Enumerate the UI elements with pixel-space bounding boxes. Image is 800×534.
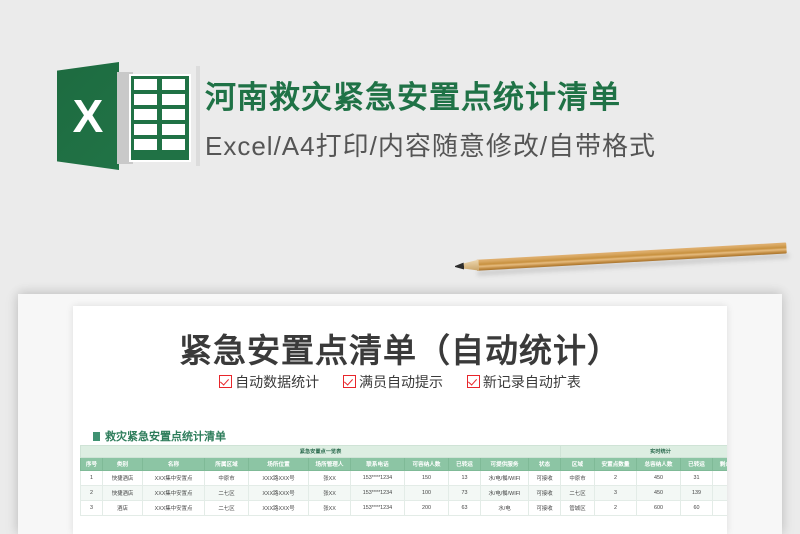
table-cell[interactable]: 13 (449, 471, 481, 486)
table-cell[interactable]: 张XX (309, 486, 351, 501)
column-header[interactable]: 已转运 (681, 458, 713, 471)
table-cell[interactable]: 2 (81, 486, 103, 501)
square-bullet-icon (93, 432, 100, 441)
table-cell[interactable]: 水/电/餐/WIFI (481, 471, 529, 486)
feature-item-3: 新记录自动扩表 (467, 372, 581, 392)
table-cell[interactable]: 153****1234 (351, 471, 405, 486)
column-header[interactable]: 可容纳人数 (405, 458, 449, 471)
table-cell[interactable]: 中原市 (205, 471, 249, 486)
feature-label: 自动数据统计 (235, 374, 319, 390)
column-header[interactable]: 已转运 (449, 458, 481, 471)
table-cell[interactable]: 200 (405, 501, 449, 516)
table-cell[interactable]: 快捷酒店 (103, 471, 143, 486)
column-header[interactable]: 区域 (561, 458, 595, 471)
column-header[interactable]: 可提供服务 (481, 458, 529, 471)
feature-item-1: 自动数据统计 (219, 372, 319, 392)
table-cell[interactable]: 153****1234 (351, 501, 405, 516)
banner-title: 河南救灾紧急安置点统计清单 (205, 72, 621, 117)
table-cell[interactable]: 张XX (309, 471, 351, 486)
table-cell[interactable]: XXX路XXX号 (249, 486, 309, 501)
table-cell[interactable]: 139 (681, 486, 713, 501)
checkbox-checked-icon (219, 375, 232, 388)
table-cell[interactable]: 150 (405, 471, 449, 486)
table-cell[interactable]: 419 (713, 471, 728, 486)
table-cell[interactable]: 中原市 (561, 471, 595, 486)
table-caption: 实时统计 (561, 446, 728, 458)
table-cell[interactable]: 可接收 (529, 501, 561, 516)
table-cell[interactable]: XXX集中安置点 (143, 486, 205, 501)
table-row[interactable]: 管城区260060540 (561, 501, 728, 516)
sheet-section-label: 救灾紧急安置点统计清单 (105, 431, 226, 443)
feature-label: 新记录自动扩表 (483, 374, 581, 390)
excel-logo-letter: X (57, 62, 119, 170)
column-header[interactable]: 序号 (81, 458, 103, 471)
table-cell[interactable]: XXX路XXX号 (249, 501, 309, 516)
table-cell[interactable]: 3 (81, 501, 103, 516)
table-cell[interactable]: 153****1234 (351, 486, 405, 501)
column-header[interactable]: 所属区域 (205, 458, 249, 471)
excel-logo-icon: X (57, 62, 192, 170)
column-header[interactable]: 总容纳人数 (637, 458, 681, 471)
table-row[interactable]: 二七区3450139311 (561, 486, 728, 501)
feature-label: 满员自动提示 (359, 374, 443, 390)
table-cell[interactable]: 2 (595, 471, 637, 486)
table-row[interactable]: 2快捷酒店XXX集中安置点二七区XXX路XXX号张XX153****123410… (81, 486, 561, 501)
table-cell[interactable]: 水/电/餐/WIFI (481, 486, 529, 501)
table-cell[interactable]: 60 (681, 501, 713, 516)
table-cell[interactable]: XXX集中安置点 (143, 501, 205, 516)
table-cell[interactable]: XXX集中安置点 (143, 471, 205, 486)
column-header[interactable]: 类别 (103, 458, 143, 471)
spreadsheet-preview: 救灾紧急安置点统计清单 紧急安置点一览表序号类别名称所属区域场所位置场所管理人联… (73, 428, 727, 534)
column-header[interactable]: 剩余接纳人数 (713, 458, 728, 471)
page-title: 紧急安置点清单（自动统计） (73, 324, 727, 372)
table-cell[interactable]: 2 (595, 501, 637, 516)
top-banner: X 河南救灾紧急安置点统计清单 Excel/A4打印/内容随意修改/自带格式 (0, 0, 800, 250)
table-cell[interactable]: 可接收 (529, 471, 561, 486)
table-cell[interactable]: 1 (81, 471, 103, 486)
table-cell[interactable]: 450 (637, 471, 681, 486)
table-cell[interactable]: 63 (449, 501, 481, 516)
table-cell[interactable]: 张XX (309, 501, 351, 516)
title-divider (196, 66, 200, 166)
checkbox-checked-icon (343, 375, 356, 388)
table-cell[interactable]: 73 (449, 486, 481, 501)
table-caption-row: 紧急安置点一览表 (81, 446, 561, 458)
column-header[interactable]: 场所位置 (249, 458, 309, 471)
table-row[interactable]: 3酒店XXX集中安置点二七区XXX路XXX号张XX153****12342006… (81, 501, 561, 516)
table-cell[interactable]: 600 (637, 501, 681, 516)
column-header[interactable]: 名称 (143, 458, 205, 471)
table-cell[interactable]: 酒店 (103, 501, 143, 516)
table-cell[interactable]: 3 (595, 486, 637, 501)
table-cell[interactable]: 可接收 (529, 486, 561, 501)
table-cell[interactable]: 311 (713, 486, 728, 501)
table-cell[interactable]: 水/电 (481, 501, 529, 516)
sheet-section-title: 救灾紧急安置点统计清单 (93, 428, 226, 444)
table-cell[interactable]: 快捷酒店 (103, 486, 143, 501)
placement-table[interactable]: 紧急安置点一览表序号类别名称所属区域场所位置场所管理人联系电话可容纳人数已转运可… (80, 445, 561, 516)
pencil-wood-cone (463, 260, 480, 272)
table-row[interactable]: 中原市245031419 (561, 471, 728, 486)
table-header-row: 序号类别名称所属区域场所位置场所管理人联系电话可容纳人数已转运可提供服务状态 (81, 458, 561, 471)
table-caption-row: 实时统计 (561, 446, 728, 458)
table-cell[interactable]: 540 (713, 501, 728, 516)
table-caption: 紧急安置点一览表 (81, 446, 561, 458)
table-row[interactable]: 1快捷酒店XXX集中安置点中原市XXX路XXX号张XX153****123415… (81, 471, 561, 486)
table-cell[interactable]: 二七区 (205, 501, 249, 516)
column-header[interactable]: 场所管理人 (309, 458, 351, 471)
table-cell[interactable]: XXX路XXX号 (249, 471, 309, 486)
table-cell[interactable]: 31 (681, 471, 713, 486)
excel-logo-grid (129, 74, 191, 162)
document-card: 紧急安置点清单（自动统计） 自动数据统计 满员自动提示 新记录自动扩表 救灾紧急… (18, 294, 782, 534)
table-cell[interactable]: 100 (405, 486, 449, 501)
banner-subtitle: Excel/A4打印/内容随意修改/自带格式 (205, 126, 656, 163)
realtime-stats-table[interactable]: 实时统计区域安置点数量总容纳人数已转运剩余接纳人数中原市245031419二七区… (560, 445, 727, 516)
table-header-row: 区域安置点数量总容纳人数已转运剩余接纳人数 (561, 458, 728, 471)
checkbox-checked-icon (467, 375, 480, 388)
table-cell[interactable]: 二七区 (205, 486, 249, 501)
document-page: 紧急安置点清单（自动统计） 自动数据统计 满员自动提示 新记录自动扩表 救灾紧急… (73, 306, 727, 534)
pencil-tip (455, 263, 464, 270)
table-cell[interactable]: 450 (637, 486, 681, 501)
column-header[interactable]: 安置点数量 (595, 458, 637, 471)
column-header[interactable]: 联系电话 (351, 458, 405, 471)
feature-list: 自动数据统计 满员自动提示 新记录自动扩表 (73, 372, 727, 392)
column-header[interactable]: 状态 (529, 458, 561, 471)
table-cell[interactable]: 管城区 (561, 501, 595, 516)
feature-item-2: 满员自动提示 (343, 372, 443, 392)
table-cell[interactable]: 二七区 (561, 486, 595, 501)
